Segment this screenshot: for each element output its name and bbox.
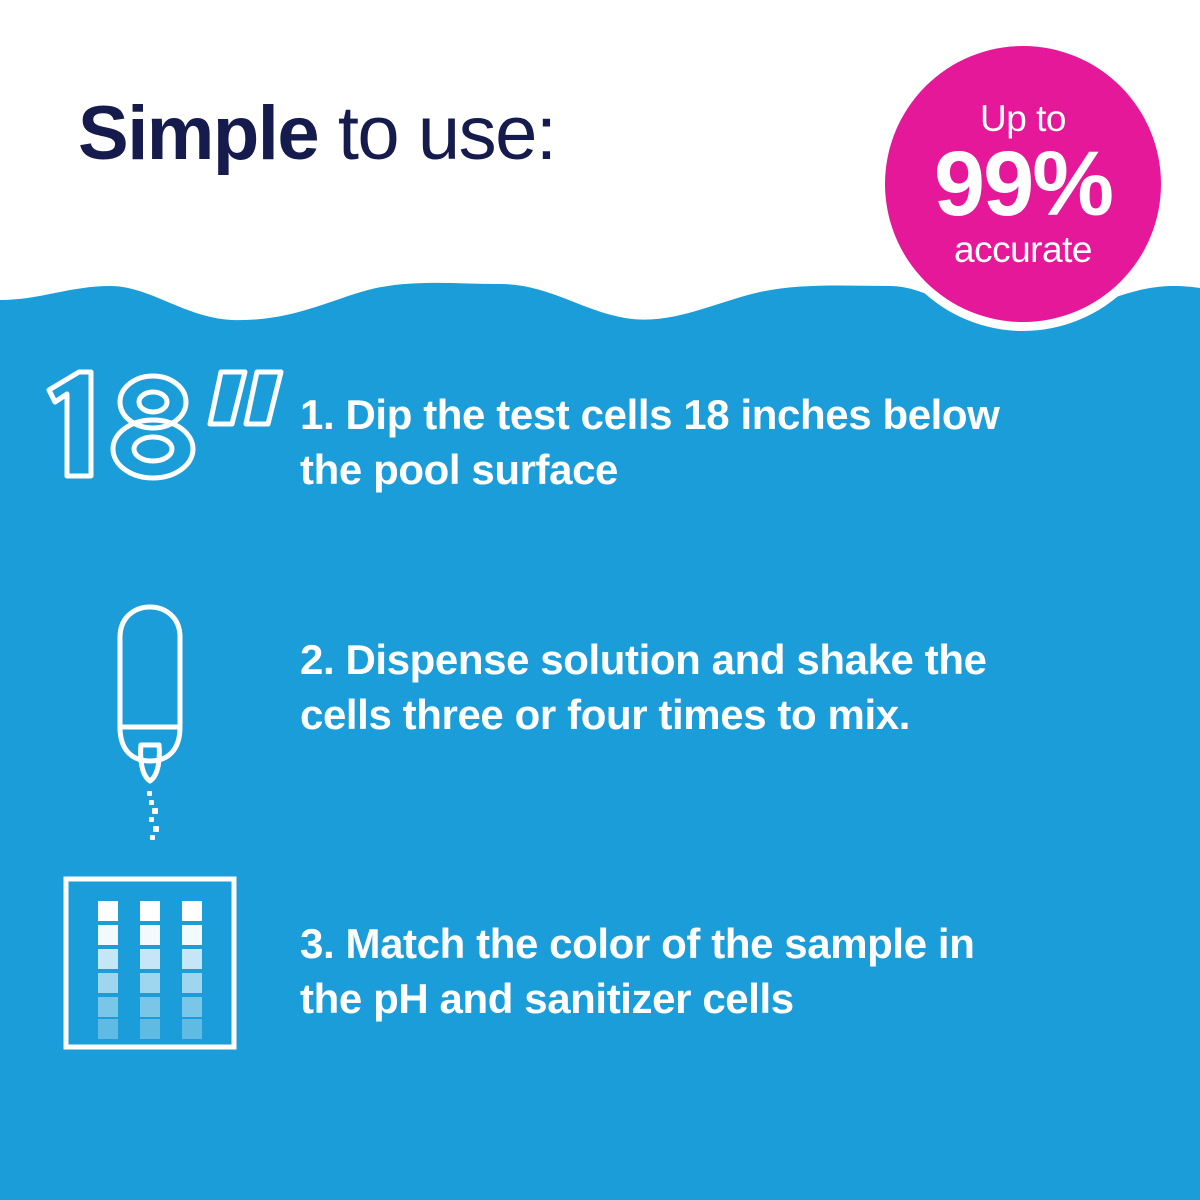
steps-list: 1. Dip the test cells 18 inches below th… — [0, 360, 1200, 1065]
accuracy-badge-prefix: Up to — [980, 100, 1066, 137]
color-chart-grid-icon — [62, 875, 238, 1051]
step-3-icon-slot — [0, 865, 300, 1051]
eighteen-inches-icon — [29, 364, 289, 484]
page-title: Simple to use: — [78, 96, 555, 172]
page-title-light: to use: — [318, 91, 555, 176]
step-item: 3. Match the color of the sample in the … — [0, 865, 1200, 1065]
step-item: 1. Dip the test cells 18 inches below th… — [0, 360, 1200, 595]
page-title-strong: Simple — [78, 91, 318, 176]
step-item: 2. Dispense solution and shake the cells… — [0, 595, 1200, 865]
accuracy-badge-suffix: accurate — [954, 231, 1092, 268]
step-1-icon-slot — [0, 360, 300, 484]
step-2-icon-slot — [0, 595, 300, 845]
step-3-text: 3. Match the color of the sample in the … — [300, 865, 1040, 1026]
accuracy-badge: Up to 99% accurate — [885, 46, 1161, 322]
step-2-text: 2. Dispense solution and shake the cells… — [300, 595, 1040, 742]
dropper-bottle-icon — [75, 595, 225, 845]
step-1-text: 1. Dip the test cells 18 inches below th… — [300, 360, 1040, 497]
drop-trail — [147, 791, 159, 840]
accuracy-badge-value: 99% — [934, 139, 1112, 229]
infographic-canvas: Simple to use: Up to 99% accurate — [0, 0, 1200, 1200]
